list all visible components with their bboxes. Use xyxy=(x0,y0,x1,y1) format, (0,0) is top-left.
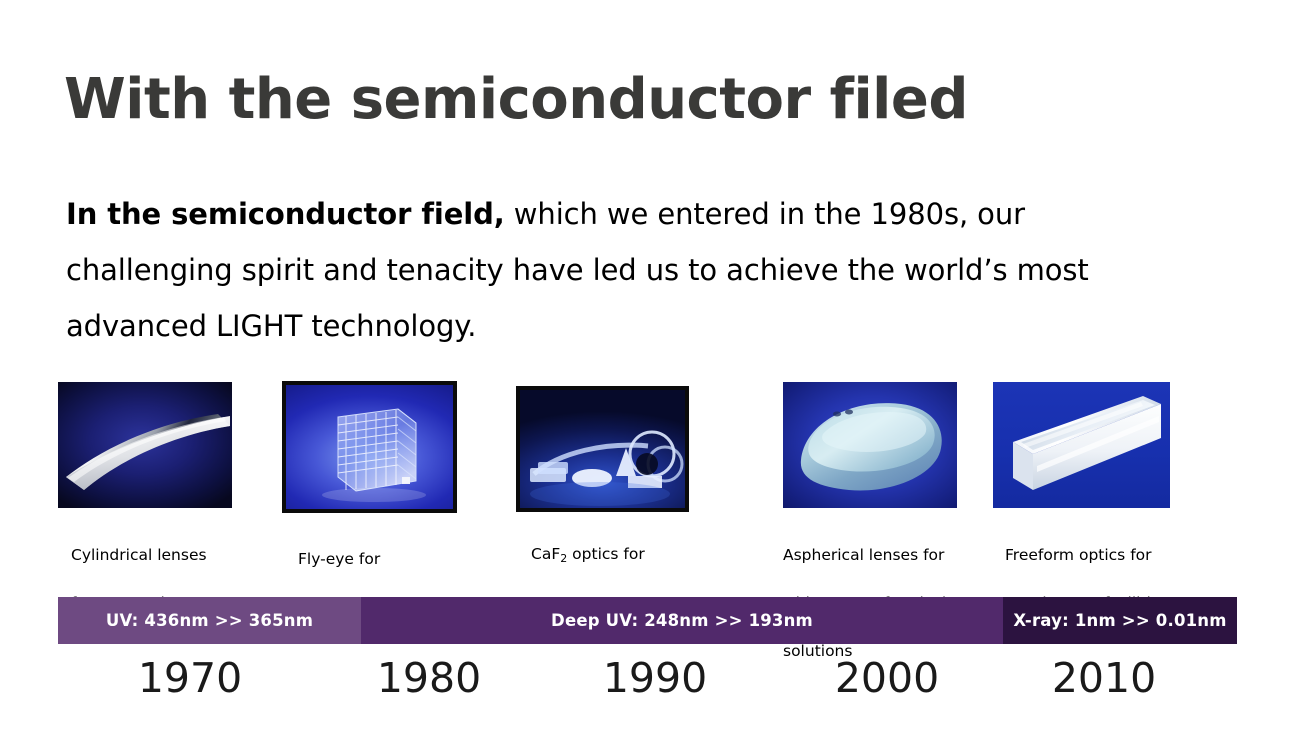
cylindrical-lens-photo xyxy=(58,382,232,508)
spectrum-segment-uv: UV: 436nm >> 365nm xyxy=(58,597,361,644)
body-lead-text: In the semiconductor field, xyxy=(66,197,505,231)
thumbnail-fly-eye: Fly-eye for Lithography systems xyxy=(282,381,482,576)
caf2-optics-photo xyxy=(520,390,685,508)
cylindrical-lens-photo-frame xyxy=(58,382,232,508)
spectrum-segment-x-ray: X-ray: 1nm >> 0.01nm xyxy=(1003,597,1237,644)
caption-prefix: CaF xyxy=(531,545,560,563)
caption-line-1: CaF2 optics for xyxy=(531,542,654,568)
spectrum-segment-deep-uv: Deep UV: 248nm >> 193nm xyxy=(361,597,1003,644)
caption-line-1: Fly-eye for xyxy=(298,547,460,571)
freeform-optics-photo xyxy=(993,382,1170,508)
spectrum-segment-label: UV: 436nm >> 365nm xyxy=(106,611,313,630)
thumbnail-cylindrical-lenses: Cylindrical lenses for Laser printers xyxy=(58,382,258,572)
timeline-year: 1990 xyxy=(603,652,707,704)
timeline-year: 2010 xyxy=(1052,652,1156,704)
fly-eye-lens-photo-frame xyxy=(282,381,457,513)
spectrum-segment-label: X-ray: 1nm >> 0.01nm xyxy=(1013,611,1226,630)
caption-suffix: optics for xyxy=(567,545,644,563)
aspherical-lens-photo-frame xyxy=(783,382,957,508)
caption-line-1: Freeform optics for xyxy=(1005,543,1168,567)
thumbnail-freeform-optics: Freeform optics for Synchrotron faciliti… xyxy=(993,382,1193,572)
timeline-year: 1970 xyxy=(138,652,242,704)
thumbnail-aspherical-lenses: Aspherical lenses for wide range of opti… xyxy=(783,382,983,592)
body-paragraph: In the semiconductor field, which we ent… xyxy=(66,186,1196,354)
fly-eye-lens-photo xyxy=(286,385,453,509)
timeline-year: 2000 xyxy=(835,652,939,704)
caption-line-1: Aspherical lenses for xyxy=(783,543,946,567)
timeline-year: 1980 xyxy=(377,652,481,704)
caption-subscript: 2 xyxy=(560,552,567,565)
spectrum-segment-label: Deep UV: 248nm >> 193nm xyxy=(551,611,813,630)
aspherical-lens-photo xyxy=(783,382,957,508)
wavelength-spectrum-bar: UV: 436nm >> 365nm Deep UV: 248nm >> 193… xyxy=(58,597,1237,644)
caption-line-1: Cylindrical lenses xyxy=(71,543,207,567)
timeline-year-axis: 1970 1980 1990 2000 2010 xyxy=(58,652,1237,712)
caf2-optics-photo-frame xyxy=(516,386,689,512)
thumbnail-caf2-optics: CaF2 optics for DUV Equipment xyxy=(516,386,716,576)
freeform-optics-photo-frame xyxy=(993,382,1170,508)
page-title: With the semiconductor filed xyxy=(64,72,968,128)
